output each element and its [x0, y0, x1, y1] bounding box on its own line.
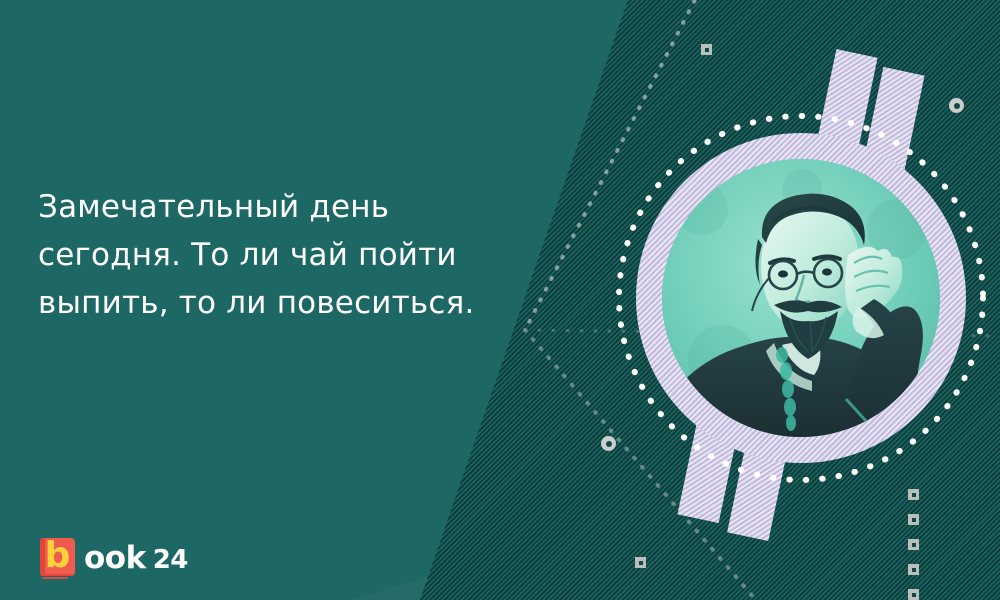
logo-word: ook	[84, 541, 146, 575]
portrait-medallion	[618, 25, 983, 530]
book24-logo[interactable]: b ook 24	[40, 538, 188, 580]
decor-square	[908, 589, 919, 600]
book-icon: b	[40, 538, 75, 580]
logo-wordmark: ook 24	[84, 541, 188, 577]
decor-square	[908, 489, 919, 500]
logo-letter-b: b	[40, 536, 75, 576]
dotted-circle-outline	[610, 107, 992, 489]
poster-canvas: Замечательный день сегодня. То ли чай по…	[0, 0, 1000, 600]
decor-square-column	[908, 489, 919, 600]
quote-text: Замечательный день сегодня. То ли чай по…	[38, 183, 558, 327]
decor-square	[908, 539, 919, 550]
logo-number: 24	[153, 543, 188, 577]
decor-square	[908, 514, 919, 525]
decor-square	[908, 564, 919, 575]
